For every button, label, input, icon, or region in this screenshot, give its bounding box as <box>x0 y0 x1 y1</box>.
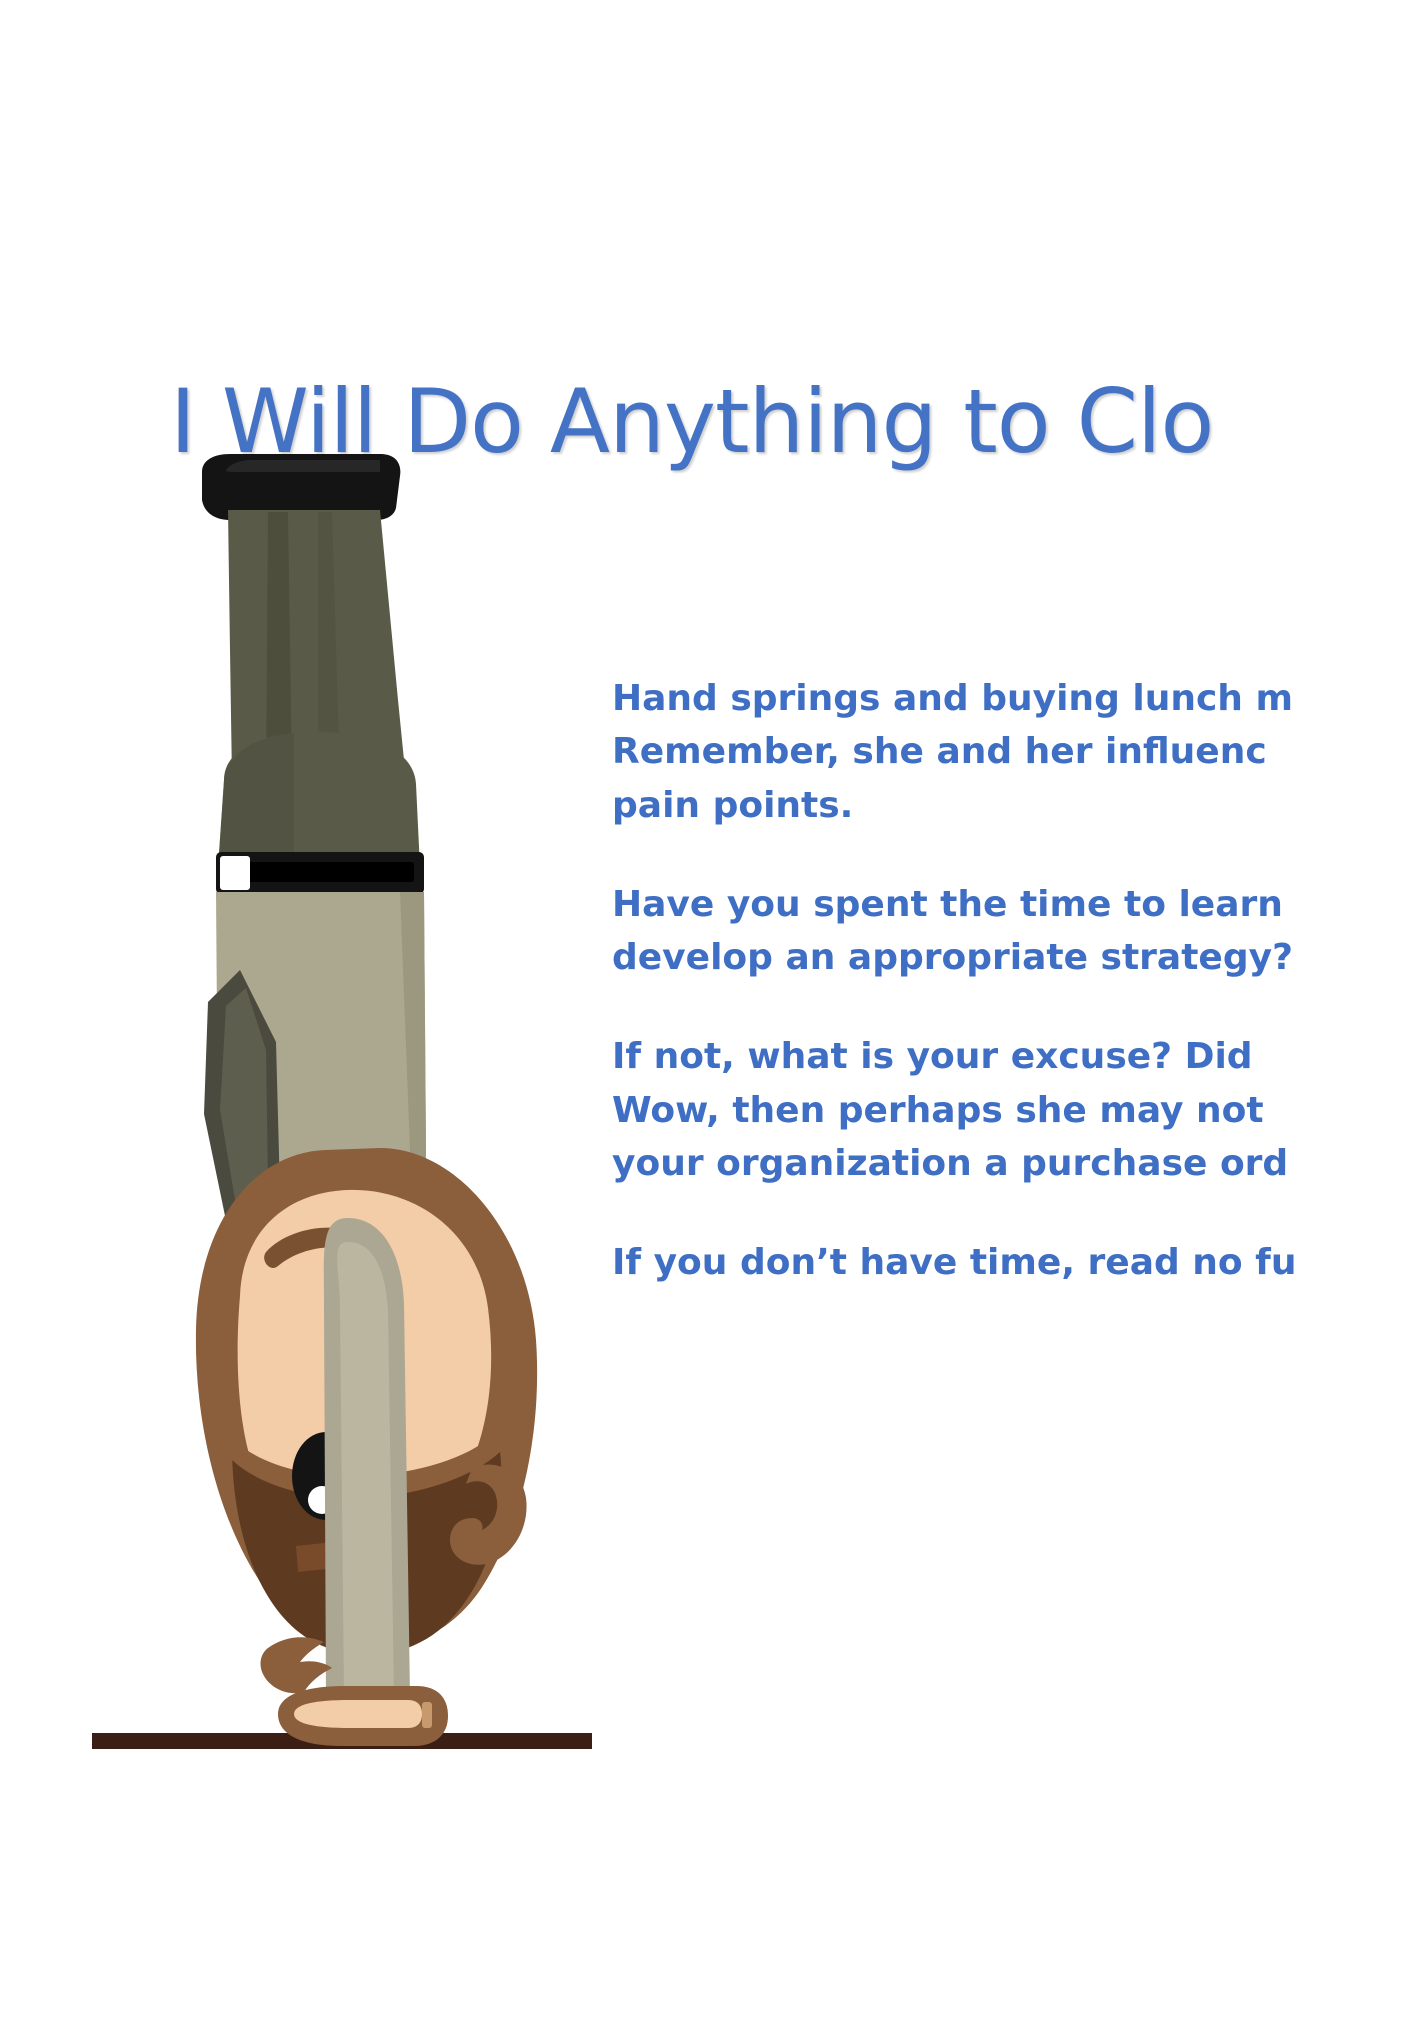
body-paragraph-1: Hand springs and buying lunch m Remember… <box>612 672 1428 832</box>
body-line: If not, what is your excuse? Did <box>612 1030 1428 1083</box>
body-paragraph-2: Have you spent the time to learn develop… <box>612 878 1428 985</box>
slide-body-text: Hand springs and buying lunch m Remember… <box>612 672 1428 1289</box>
hips-shade <box>218 733 294 868</box>
body-line: pain points. <box>612 779 1428 832</box>
handstand-man-illustration <box>80 450 600 1780</box>
body-paragraph-3: If not, what is your excuse? Did Wow, th… <box>612 1030 1428 1190</box>
body-line: Remember, she and her influenc <box>612 725 1428 778</box>
body-line: Have you spent the time to learn <box>612 878 1428 931</box>
back-hand <box>261 1637 332 1693</box>
body-paragraph-4: If you don’t have time, read no fu <box>612 1236 1428 1289</box>
hand-palm-highlight <box>294 1700 422 1728</box>
hand-thumb-notch <box>422 1702 432 1728</box>
body-line: Hand springs and buying lunch m <box>612 672 1428 725</box>
back-shoe-highlight <box>226 460 380 472</box>
belt-inner-shadow <box>232 862 414 882</box>
body-line: Wow, then perhaps she may not <box>612 1084 1428 1137</box>
body-line: If you don’t have time, read no fu <box>612 1236 1428 1289</box>
body-line: develop an appropriate strategy? <box>612 931 1428 984</box>
supporting-arm-inner <box>337 1242 394 1696</box>
handstand-man-svg <box>80 450 600 1780</box>
body-line: your organization a purchase ord <box>612 1137 1428 1190</box>
belt-buckle <box>220 856 250 890</box>
presentation-slide: I Will Do Anything to Clo <box>0 0 1428 2018</box>
